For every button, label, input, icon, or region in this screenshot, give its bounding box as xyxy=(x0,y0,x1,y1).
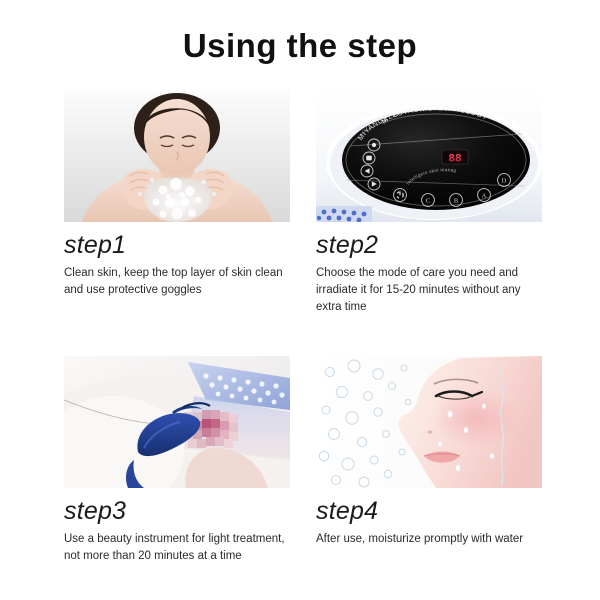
product-instruction-page: Using the step xyxy=(0,0,600,600)
washing-face-illustration xyxy=(64,90,290,222)
svg-text:C: C xyxy=(426,197,430,204)
step-body-1: Clean skin, keep the top layer of skin c… xyxy=(64,265,288,299)
light-treatment-illustration xyxy=(64,356,290,488)
step-heading-1: step1 xyxy=(64,231,290,259)
face-profile-illustration xyxy=(316,356,542,488)
led-light-treatment-photo xyxy=(64,356,290,488)
step-heading-4: step4 xyxy=(316,497,542,525)
step-card-2: M E I Y A N MIYANGELECTRONICTECHNOLOGY 8… xyxy=(316,90,542,316)
svg-text:B: B xyxy=(454,197,459,204)
step-card-4: step4 After use, moisturize promptly wit… xyxy=(316,356,542,565)
control-panel-illustration: M E I Y A N MIYANGELECTRONICTECHNOLOGY 8… xyxy=(316,90,542,222)
step-heading-3: step3 xyxy=(64,497,290,525)
page-title: Using the step xyxy=(0,26,600,66)
step-body-2: Choose the mode of care you need and irr… xyxy=(316,265,540,316)
step-card-1: step1 Clean skin, keep the top layer of … xyxy=(64,90,290,316)
device-control-panel-photo: M E I Y A N MIYANGELECTRONICTECHNOLOGY 8… xyxy=(316,90,542,222)
step-body-4: After use, moisturize promptly with wate… xyxy=(316,531,540,548)
svg-text:A: A xyxy=(482,192,487,199)
steps-grid: step1 Clean skin, keep the top layer of … xyxy=(64,90,542,565)
woman-washing-face-photo xyxy=(64,90,290,222)
face-profile-water-drops-photo xyxy=(316,356,542,488)
svg-text:88: 88 xyxy=(448,154,462,166)
svg-text:D: D xyxy=(502,177,507,184)
step-card-3: step3 Use a beauty instrument for light … xyxy=(64,356,290,565)
step-body-3: Use a beauty instrument for light treatm… xyxy=(64,531,288,565)
step-heading-2: step2 xyxy=(316,231,542,259)
